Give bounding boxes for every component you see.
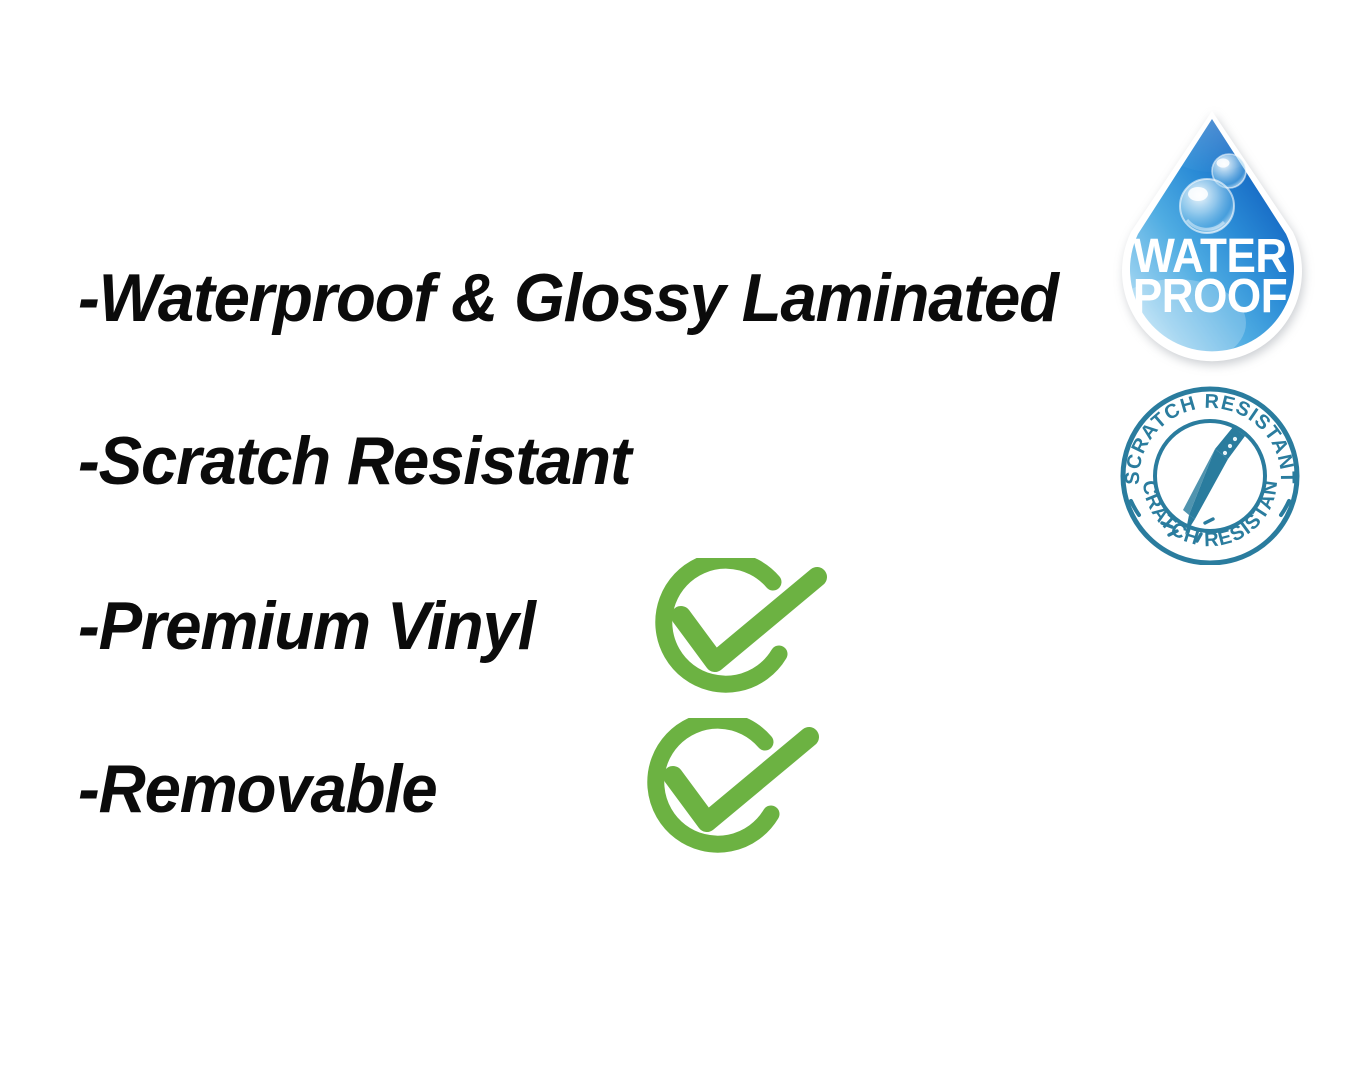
droplet-top-gloss <box>1160 108 1264 172</box>
check-circle-icon <box>637 718 819 870</box>
check-mark-stroke <box>673 737 809 822</box>
waterproof-line2: PROOF <box>1133 268 1287 322</box>
droplet-shadow-layer: WATER PROOF <box>1106 108 1318 362</box>
feature-item-removable: -Removable <box>78 755 437 823</box>
waterproof-droplet-badge: WATER PROOF <box>1106 108 1318 362</box>
feature-item-scratch-resistant: -Scratch Resistant <box>78 427 630 495</box>
scratch-resistant-seal-icon: SCRATCH RESISTANT SCRATCH RESISTANT <box>1117 383 1303 565</box>
check-mark-stroke <box>681 577 817 662</box>
droplet-bubble-large <box>1180 179 1234 233</box>
feature-item-waterproof-glossy-laminated: -Waterproof & Glossy Laminated <box>78 264 1058 332</box>
check-circle-premium-vinyl <box>645 558 827 710</box>
check-circle-removable <box>637 718 819 870</box>
feature-item-premium-vinyl: -Premium Vinyl <box>78 592 535 660</box>
droplet-shape-icon: WATER PROOF <box>1106 108 1318 362</box>
promo-feature-graphic: -Waterproof & Glossy Laminated -Scratch … <box>0 0 1359 1080</box>
check-circle-icon <box>645 558 827 710</box>
scratch-resistant-badge: SCRATCH RESISTANT SCRATCH RESISTANT <box>1117 383 1303 565</box>
